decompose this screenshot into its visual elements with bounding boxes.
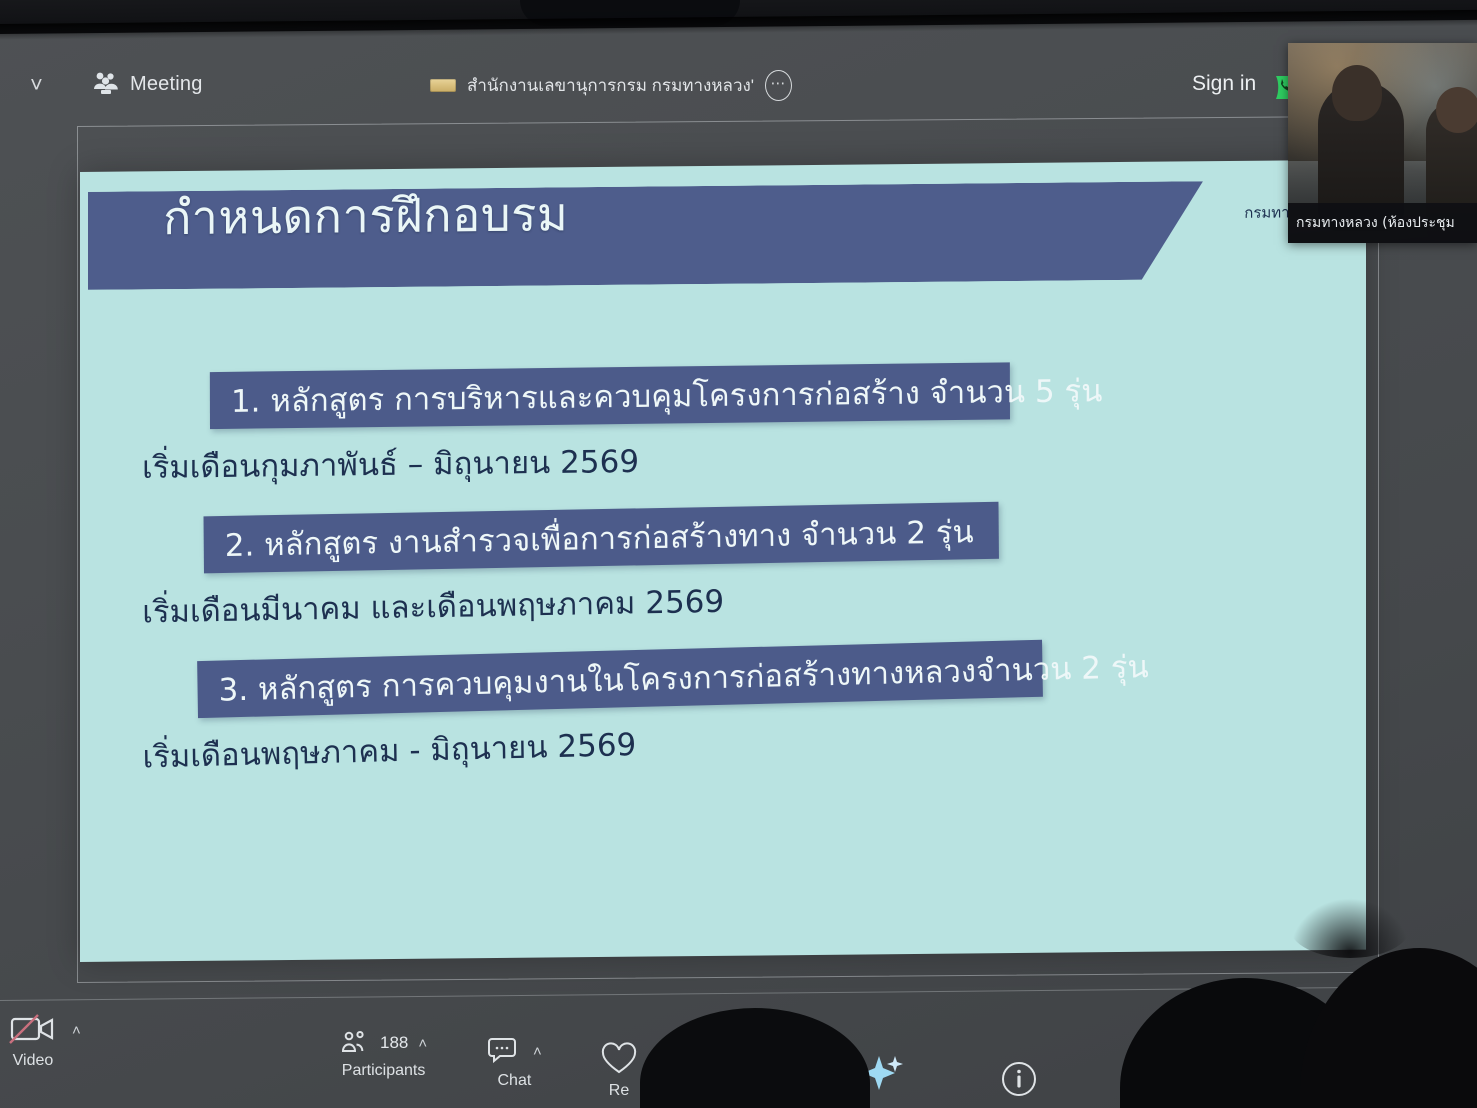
agenda-item-3: 3. หลักสูตร การควบคุมงานในโครงการก่อสร้า…	[80, 632, 1366, 784]
slide-body: 1. หลักสูตร การบริหารและควบคุมโครงการก่อ…	[80, 360, 1366, 781]
slide-title: กำหนดการฝึกอบรม	[163, 191, 568, 242]
video-caption: กรมทางหลวง (ห้องประชุม	[1288, 203, 1477, 243]
sign-in-button[interactable]: Sign in	[1192, 72, 1256, 96]
ellipsis-icon[interactable]: ⋯	[765, 70, 792, 101]
participants-control-label: Participants	[340, 1062, 427, 1080]
agenda-item-3-bar: 3. หลักสูตร การควบคุมงานในโครงการก่อสร้า…	[197, 640, 1043, 718]
info-circle-icon	[1000, 1060, 1038, 1098]
agenda-item-2-subtext: เริ่มเดือนมีนาคม และเดือนพฤษภาคม 2569	[80, 564, 1366, 638]
participants-control[interactable]: 188 ˄ Participants	[340, 1030, 427, 1080]
participants-count: 188	[380, 1033, 408, 1053]
chat-control[interactable]: ˄ Chat	[487, 1036, 542, 1090]
video-caret[interactable]: ˄	[72, 1022, 81, 1040]
agenda-item-2-bar: 2. หลักสูตร งานสำรวจเพื่อการก่อสร้างทาง …	[204, 502, 999, 574]
video-thumbnail[interactable]: กรมทางหลวง (ห้องประชุม	[1288, 43, 1477, 243]
video-control-label: Video	[8, 1052, 58, 1070]
video-off-icon[interactable]	[8, 1012, 58, 1046]
video-feed-head-2	[1436, 87, 1477, 133]
reactions-control-label: Re	[600, 1082, 638, 1100]
agenda-item-1-heading: 1. หลักสูตร การบริหารและควบคุมโครงการก่อ…	[210, 365, 1103, 426]
agenda-item-1-subtext: เริ่มเดือนกุมภาพันธ์ – มิถุนายน 2569	[80, 427, 1366, 493]
collapse-chevron-down-icon[interactable]: ˅	[30, 74, 43, 96]
video-control[interactable]: Video	[8, 1012, 58, 1070]
audience-hair-silhouette	[1290, 898, 1410, 958]
agenda-item-1: 1. หลักสูตร การบริหารและควบคุมโครงการก่อ…	[80, 358, 1366, 493]
people-icon	[92, 70, 120, 96]
shared-title-text: สำนักงานเลขานุการกรม กรมทางหลวง'	[467, 72, 754, 99]
agenda-item-1-bar: 1. หลักสูตร การบริหารและควบคุมโครงการก่อ…	[210, 362, 1010, 429]
agenda-item-2: 2. หลักสูตร งานสำรวจเพื่อการก่อสร้างทาง …	[80, 495, 1366, 638]
participants-caret-icon[interactable]: ˄	[418, 1035, 427, 1052]
heart-icon	[600, 1042, 638, 1076]
video-feed-head-1	[1332, 65, 1382, 121]
chat-control-label: Chat	[487, 1072, 542, 1090]
agenda-item-3-heading: 3. หลักสูตร การควบคุมงานในโครงการก่อสร้า…	[197, 641, 1149, 715]
participants-icon	[340, 1030, 370, 1056]
screenshot-root: ˅ Meeting สำนักงานเลขานุการกรม กรมทางหลว…	[0, 0, 1477, 1108]
video-caption-text: กรมทางหลวง (ห้องประชุม	[1296, 212, 1455, 234]
meeting-label: Meeting	[130, 73, 203, 96]
info-control[interactable]	[1000, 1060, 1038, 1098]
presentation-slide: กำหนดการฝึกอบรม กรมทางหลวง 1. หลักสูตร ก…	[80, 160, 1366, 962]
shared-meeting-title-group[interactable]: สำนักงานเลขานุการกรม กรมทางหลวง' ⋯	[430, 70, 792, 101]
reactions-control[interactable]: Re	[600, 1042, 638, 1100]
agenda-item-2-heading: 2. หลักสูตร งานสำรวจเพื่อการก่อสร้างทาง …	[204, 506, 974, 570]
thai-flag-icon	[430, 79, 456, 92]
chat-icon	[487, 1036, 521, 1066]
video-caret-icon[interactable]: ˄	[72, 1022, 81, 1039]
chat-caret-icon[interactable]: ˄	[533, 1043, 542, 1060]
